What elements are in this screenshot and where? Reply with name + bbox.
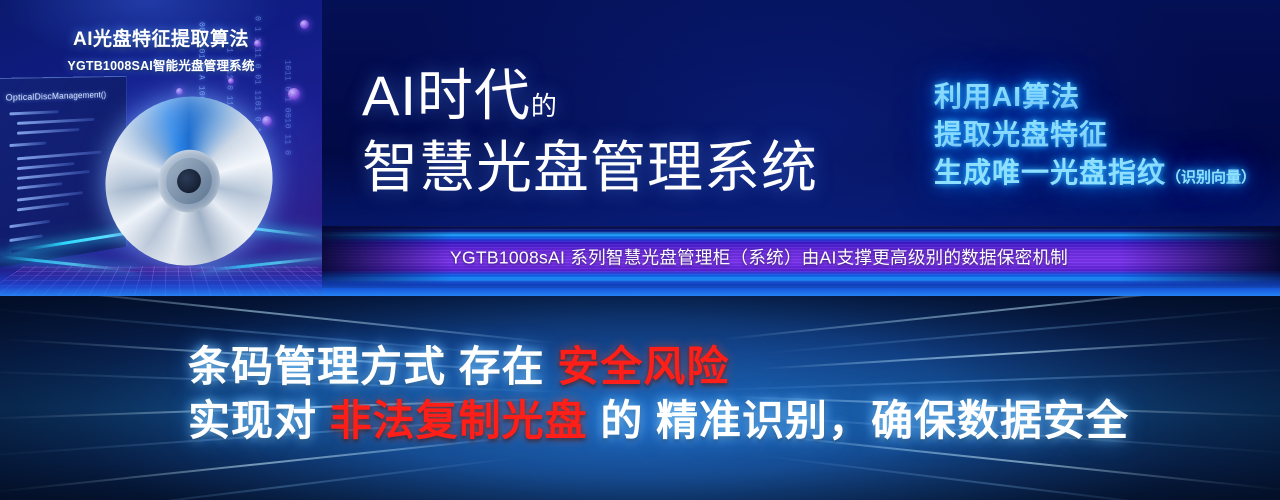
bottom-line-1: 条码管理方式 存在 安全风险 <box>188 340 1129 394</box>
top-section: OpticalDiscManagement() 00 1101 0 A 1001… <box>0 0 1280 296</box>
headline-suffix-de: 的 <box>531 91 558 121</box>
feature-text: 提取光盘特征 <box>934 119 1108 150</box>
bottom-line2-part3: 的 精准识别，确保数据安全 <box>588 397 1129 444</box>
headline-main-text: AI时代 <box>362 64 531 127</box>
panel-title: AI光盘特征提取算法 <box>0 24 322 51</box>
left-image-panel: OpticalDiscManagement() 00 1101 0 A 1001… <box>0 0 322 296</box>
bottom-line2-part1: 实现对 <box>188 397 330 444</box>
code-label: OpticalDiscManagement() <box>6 90 107 104</box>
feature-list: 利用AI算法 提取光盘特征 生成唯一光盘指纹（识别向量） <box>934 78 1256 197</box>
bottom-line1-part1: 条码管理方式 存在 <box>188 343 557 390</box>
bottom-line1-alert: 安全风险 <box>557 343 729 390</box>
feature-text: 生成唯一光盘指纹 <box>934 157 1166 188</box>
node-dot <box>228 78 234 84</box>
optical-disc-icon <box>95 83 284 279</box>
grid-floor-graphic <box>0 266 322 296</box>
panel-subtitle: YGTB1008SAI智能光盘管理系统 <box>0 55 322 74</box>
bottom-line2-alert: 非法复制光盘 <box>330 397 588 444</box>
node-dot <box>176 88 183 95</box>
headline-line-2: 智慧光盘管理系统 <box>362 136 818 200</box>
bottom-line-2: 实现对 非法复制光盘 的 精准识别，确保数据安全 <box>188 394 1129 448</box>
bottom-message-block: 条码管理方式 存在 安全风险 实现对 非法复制光盘 的 精准识别，确保数据安全 <box>188 340 1129 448</box>
promo-banner: OpticalDiscManagement() 00 1101 0 A 1001… <box>0 0 1280 500</box>
binary-strip: 1011 0 1 0010 11 0 <box>282 60 291 200</box>
band-caption: YGTB1008sAI 系列智慧光盘管理柜（系统）由AI支撑更高级别的数据保密机… <box>450 245 1068 270</box>
headline-block: AI时代的 智慧光盘管理系统 <box>362 66 818 200</box>
band-right-fade <box>1120 226 1280 288</box>
feature-item-1: 利用AI算法 <box>934 78 1256 116</box>
subtitle-light-band: YGTB1008sAI 系列智慧光盘管理柜（系统）由AI支撑更高级别的数据保密机… <box>322 226 1280 288</box>
band-left-fade <box>322 226 452 288</box>
feature-note: （识别向量） <box>1166 169 1256 186</box>
feature-item-2: 提取光盘特征 <box>934 116 1256 154</box>
feature-text: 利用AI算法 <box>934 81 1080 112</box>
node-dot <box>288 88 300 100</box>
feature-item-3: 生成唯一光盘指纹（识别向量） <box>934 154 1256 197</box>
headline-line-1: AI时代的 <box>362 66 818 136</box>
